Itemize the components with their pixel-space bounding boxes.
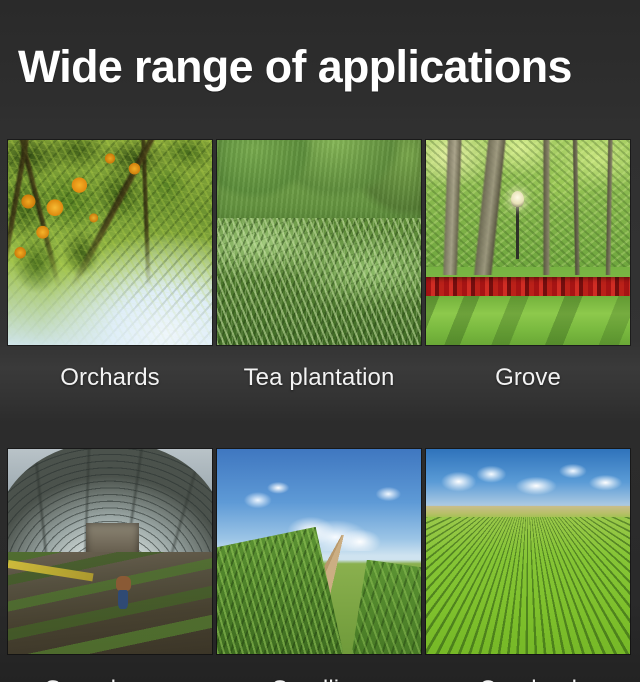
gallery-caption-greenhouse: Greenhouse <box>8 654 212 682</box>
grove-scene <box>426 140 630 345</box>
gallery-row: Orchards Tea plantation G <box>8 140 630 390</box>
gallery-item-greenhouse[interactable]: Greenhouse <box>8 449 212 682</box>
gallery-item-seedling[interactable]: Seedling <box>217 449 421 682</box>
header: Wide range of applications <box>0 0 640 132</box>
seedling-scene <box>217 449 421 654</box>
cloud-layer <box>426 453 630 506</box>
gallery-item-cropland[interactable]: Cropland <box>426 449 630 682</box>
cropland-scene <box>426 449 630 654</box>
orange-fruit-layer <box>8 140 212 345</box>
lamp-post-icon <box>516 202 519 259</box>
gallery-caption-seedling: Seedling <box>217 654 421 682</box>
orchard-scene <box>8 140 212 345</box>
gallery-row: Greenhouse Seedling Cropl <box>8 449 630 682</box>
grove-photo[interactable] <box>426 140 630 345</box>
cropland-photo[interactable] <box>426 449 630 654</box>
seedling-photo[interactable] <box>217 449 421 654</box>
tree-trunks-layer <box>426 140 630 275</box>
applications-gallery: Orchards Tea plantation G <box>8 140 630 682</box>
orchard-photo[interactable] <box>8 140 212 345</box>
page-title: Wide range of applications <box>18 44 572 89</box>
tea-plantation-photo[interactable] <box>217 140 421 345</box>
gallery-item-tea-plantation[interactable]: Tea plantation <box>217 140 421 390</box>
gallery-item-orchards[interactable]: Orchards <box>8 140 212 390</box>
gallery-caption-tea-plantation: Tea plantation <box>217 345 421 390</box>
tea-bushes-layer <box>217 218 421 345</box>
gallery-caption-cropland: Cropland <box>426 654 630 682</box>
grove-lawn-layer <box>426 296 630 345</box>
worker-figure-icon <box>114 576 132 609</box>
gallery-caption-grove: Grove <box>426 345 630 390</box>
tea-plantation-scene <box>217 140 421 345</box>
gallery-caption-orchards: Orchards <box>8 345 212 390</box>
gallery-item-grove[interactable]: Grove <box>426 140 630 390</box>
greenhouse-photo[interactable] <box>8 449 212 654</box>
crop-rows-layer <box>426 517 630 654</box>
greenhouse-scene <box>8 449 212 654</box>
